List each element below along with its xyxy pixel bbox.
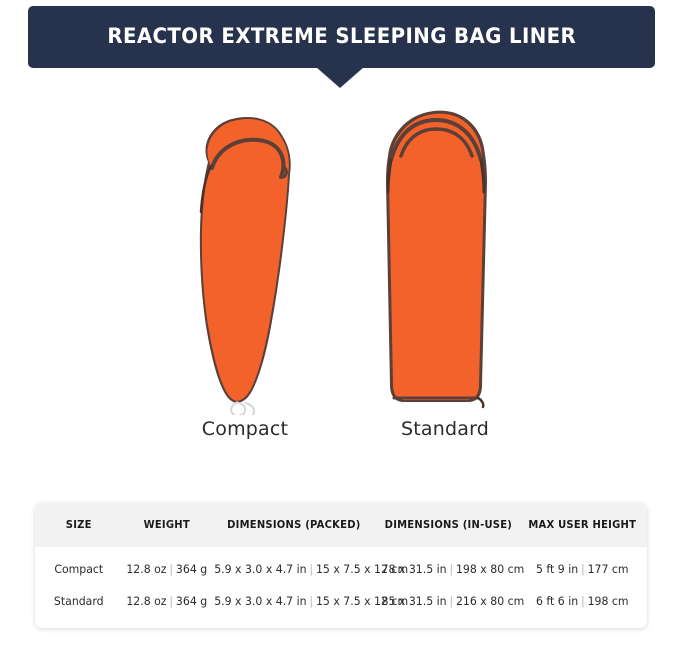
table-row: Compact 12.8 oz|364 g 5.9 x 3.0 x 4.7 in… [35,547,647,585]
column-header-weight: WEIGHT [125,503,208,547]
standard-bottom-corner-detail [478,398,483,407]
standard-bag-illustration [350,100,540,415]
packed-imperial: 5.9 x 3.0 x 4.7 in [214,594,306,608]
inuse-metric: 198 x 80 cm [456,562,524,576]
inuse-imperial: 78 x 31.5 in [381,562,446,576]
unit-separator: | [446,594,455,608]
column-header-dimensions-packed: DIMENSIONS (PACKED) [214,503,373,547]
table-row: Standard 12.8 oz|364 g 5.9 x 3.0 x 4.7 i… [35,585,647,617]
cell-weight: 12.8 oz|364 g [125,585,208,617]
height-metric: 177 cm [588,562,629,576]
unit-separator: | [307,594,316,608]
unit-separator: | [307,562,316,576]
product-standard: Standard [350,100,540,480]
packed-imperial: 5.9 x 3.0 x 4.7 in [214,562,306,576]
height-metric: 198 cm [588,594,629,608]
column-header-max-user-height: MAX USER HEIGHT [522,503,644,547]
cell-size: Compact [37,547,120,585]
table-header-row: SIZE WEIGHT DIMENSIONS (PACKED) DIMENSIO… [35,503,647,547]
product-title-banner: REACTOR EXTREME SLEEPING BAG LINER [0,0,679,100]
weight-imperial: 12.8 oz [126,594,166,608]
product-illustrations: Compact Standard [0,100,679,480]
compact-bag-illustration [150,100,340,415]
banner-pointer-triangle [316,67,364,88]
cell-size: Standard [37,585,120,617]
height-imperial: 6 ft 6 in [536,594,578,608]
unit-separator: | [166,594,175,608]
column-header-size: SIZE [37,503,120,547]
cell-max-user-height: 5 ft 9 in|177 cm [522,547,644,585]
cell-dimensions-in-use: 85 x 31.5 in|216 x 80 cm [381,585,515,617]
specifications-table-card: SIZE WEIGHT DIMENSIONS (PACKED) DIMENSIO… [35,503,647,628]
product-compact: Compact [150,100,340,480]
cell-dimensions-packed: 5.9 x 3.0 x 4.7 in|15 x 7.5 x 12 cm [214,547,373,585]
height-imperial: 5 ft 9 in [536,562,578,576]
standard-bag-body [389,114,484,400]
compact-foot-cord [231,402,245,415]
unit-separator: | [446,562,455,576]
inuse-metric: 216 x 80 cm [456,594,524,608]
table-body: Compact 12.8 oz|364 g 5.9 x 3.0 x 4.7 in… [35,547,647,617]
column-header-dimensions-in-use: DIMENSIONS (IN-USE) [381,503,515,547]
weight-metric: 364 g [175,594,206,608]
inuse-imperial: 85 x 31.5 in [381,594,446,608]
product-label-standard: Standard [350,418,540,440]
specifications-table: SIZE WEIGHT DIMENSIONS (PACKED) DIMENSIO… [35,503,647,617]
page-title: REACTOR EXTREME SLEEPING BAG LINER [107,26,576,48]
weight-imperial: 12.8 oz [126,562,166,576]
product-label-compact: Compact [150,418,340,440]
cell-dimensions-in-use: 78 x 31.5 in|198 x 80 cm [381,547,515,585]
banner-body: REACTOR EXTREME SLEEPING BAG LINER [28,6,655,68]
cell-weight: 12.8 oz|364 g [125,547,208,585]
table-header: SIZE WEIGHT DIMENSIONS (PACKED) DIMENSIO… [35,503,647,547]
cell-max-user-height: 6 ft 6 in|198 cm [522,585,644,617]
unit-separator: | [166,562,175,576]
cell-dimensions-packed: 5.9 x 3.0 x 4.7 in|15 x 7.5 x 12 cm [214,585,373,617]
weight-metric: 364 g [175,562,206,576]
